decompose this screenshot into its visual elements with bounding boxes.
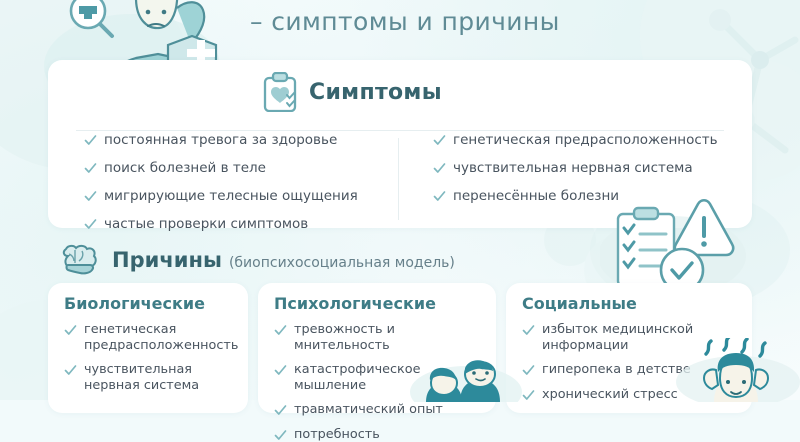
check-icon xyxy=(64,324,77,337)
cause-title-biological: Биологические xyxy=(64,294,248,313)
list-item: мигрирующие телесные ощущения xyxy=(84,188,385,205)
cause-title-social: Социальные xyxy=(522,294,752,313)
couple-illustration xyxy=(404,358,524,402)
check-icon xyxy=(274,324,287,337)
causes-subtitle: (биопсихосоциальная модель) xyxy=(229,255,455,271)
causes-header: Причины(биопсихосоциальная модель) xyxy=(60,244,455,276)
list-item: чувствительная нервная система xyxy=(64,362,238,393)
list-item: поиск болезней в теле xyxy=(84,160,385,177)
list-item: генетическая предрасположенность xyxy=(64,322,238,353)
list-item-label: постоянная тревога за здоровье xyxy=(104,132,337,149)
check-icon xyxy=(433,162,446,175)
causes-heading: Причины xyxy=(112,248,222,272)
symptoms-left-list: постоянная тревога за здоровьепоиск боле… xyxy=(84,132,385,233)
check-icon xyxy=(522,324,535,337)
cause-list-biological: генетическая предрасположенностьчувствит… xyxy=(64,322,238,393)
cause-card-biological: Биологические генетическая предрасположе… xyxy=(48,283,248,413)
check-icon xyxy=(84,134,97,147)
list-item-label: поиск болезней в теле xyxy=(104,160,266,177)
list-item-label: генетическая предрасположенность xyxy=(453,132,718,149)
check-icon xyxy=(64,364,77,377)
list-item-label: перенесённые болезни xyxy=(453,188,619,205)
list-item: постоянная тревога за здоровье xyxy=(84,132,385,149)
list-item: тревожность и мнительность xyxy=(274,322,486,353)
list-item-label: гиперопека в детстве xyxy=(542,362,691,378)
list-item-label: мигрирующие телесные ощущения xyxy=(104,188,358,205)
page-title-text: – симптомы и причины xyxy=(250,7,560,36)
page-title: – симптомы и причины xyxy=(250,0,720,42)
symptoms-right-list: генетическая предрасположенностьчувствит… xyxy=(433,132,734,205)
check-icon xyxy=(274,429,287,442)
check-icon xyxy=(433,134,446,147)
list-item-label: генетическая предрасположенность xyxy=(84,322,238,353)
list-item: генетическая предрасположенность xyxy=(433,132,734,149)
cause-title-psychological: Психологические xyxy=(274,294,496,313)
check-icon xyxy=(274,404,287,417)
list-item: чувствительная нервная система xyxy=(433,160,734,177)
symptoms-divider-horizontal xyxy=(76,130,724,131)
list-item-label: частые проверки симптомов xyxy=(104,216,308,233)
list-item: частые проверки симптомов xyxy=(84,216,385,233)
check-icon xyxy=(433,190,446,203)
clipboard-heart-icon xyxy=(263,72,297,112)
stressed-woman-illustration xyxy=(672,338,800,402)
symptoms-heading: Симптомы xyxy=(309,80,442,105)
check-icon xyxy=(274,364,287,377)
list-item: потребность xyxy=(274,427,486,442)
brain-icon xyxy=(60,244,100,276)
causes-heading-group: Причины(биопсихосоциальная модель) xyxy=(112,248,455,272)
symptoms-header: Симптомы xyxy=(263,72,442,112)
check-icon xyxy=(84,190,97,203)
check-icon xyxy=(84,218,97,231)
list-item-label: потребность xyxy=(294,427,380,442)
list-item-label: тревожность и мнительность xyxy=(294,322,486,353)
list-item-label: чувствительная нервная система xyxy=(453,160,693,177)
list-item: травматический опыт xyxy=(274,402,486,418)
check-icon xyxy=(84,162,97,175)
list-item-label: чувствительная нервная система xyxy=(84,362,238,393)
list-item-label: травматический опыт xyxy=(294,402,443,418)
